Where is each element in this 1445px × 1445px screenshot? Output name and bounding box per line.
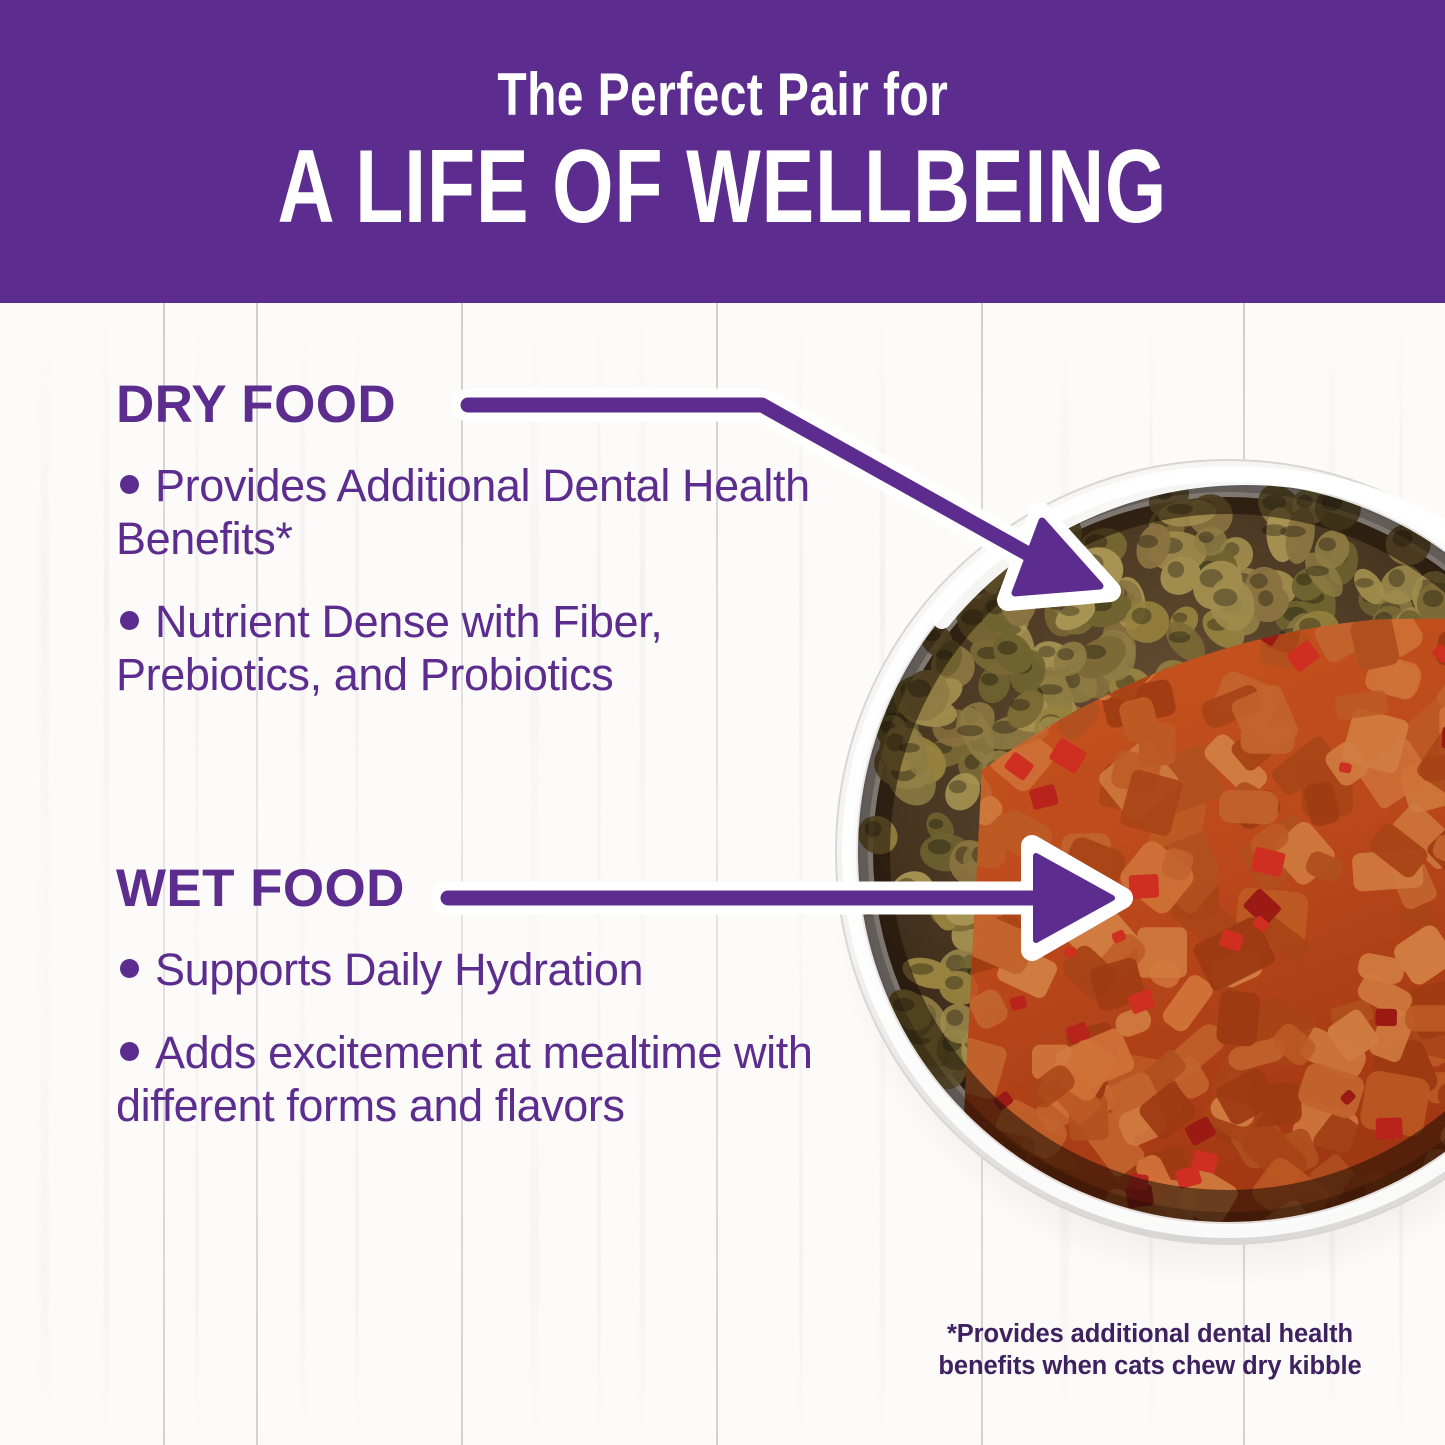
footnote-line-2: benefits when cats chew dry kibble bbox=[935, 1350, 1365, 1382]
bullet-dot-icon bbox=[120, 475, 139, 494]
header-subtitle: The Perfect Pair for bbox=[497, 65, 948, 125]
wet-food-heading: WET FOOD bbox=[116, 862, 816, 915]
list-item-text: Nutrient Dense with Fiber, Prebiotics, a… bbox=[116, 596, 662, 700]
list-item: Provides Additional Dental Health Benefi… bbox=[116, 459, 816, 565]
dry-food-section: DRY FOOD Provides Additional Dental Heal… bbox=[116, 378, 816, 731]
header-band: The Perfect Pair for A LIFE OF WELLBEING bbox=[0, 0, 1445, 303]
bullet-dot-icon bbox=[120, 1042, 139, 1061]
cat-food-bowl-photo bbox=[832, 440, 1445, 1285]
list-item: Adds excitement at mealtime with differe… bbox=[116, 1026, 816, 1132]
list-item-text: Supports Daily Hydration bbox=[155, 944, 643, 995]
list-item-text: Adds excitement at mealtime with differe… bbox=[116, 1027, 812, 1131]
wet-food-section: WET FOOD Supports Daily Hydration Adds e… bbox=[116, 862, 816, 1162]
footnote: *Provides additional dental health benef… bbox=[935, 1318, 1365, 1382]
dry-food-heading: DRY FOOD bbox=[116, 378, 816, 431]
list-item: Supports Daily Hydration bbox=[116, 943, 816, 996]
bullet-dot-icon bbox=[120, 611, 139, 630]
bullet-dot-icon bbox=[120, 959, 139, 978]
bowl-illustration bbox=[832, 440, 1445, 1285]
wet-food-bullets: Supports Daily Hydration Adds excitement… bbox=[116, 943, 816, 1132]
header-title: A LIFE OF WELLBEING bbox=[278, 135, 1168, 239]
list-item: Nutrient Dense with Fiber, Prebiotics, a… bbox=[116, 595, 816, 701]
footnote-line-1: *Provides additional dental health bbox=[935, 1318, 1365, 1350]
list-item-text: Provides Additional Dental Health Benefi… bbox=[116, 460, 810, 564]
infographic-canvas: The Perfect Pair for A LIFE OF WELLBEING bbox=[0, 0, 1445, 1445]
dry-food-bullets: Provides Additional Dental Health Benefi… bbox=[116, 459, 816, 701]
